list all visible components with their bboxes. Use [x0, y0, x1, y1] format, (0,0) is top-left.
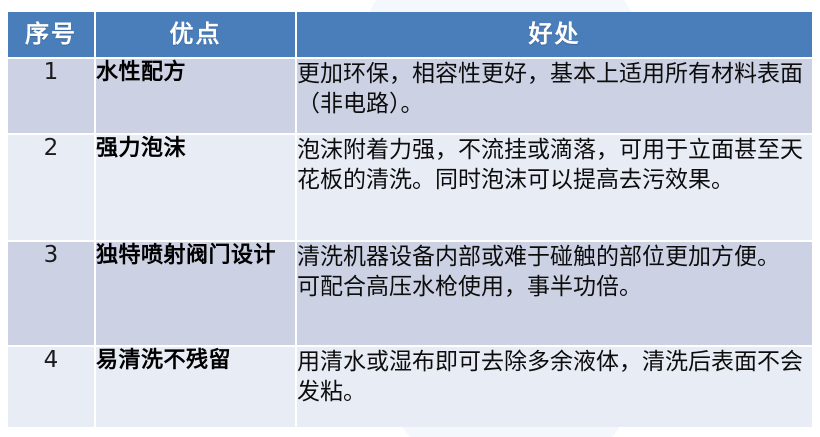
- row-benefit-cell: 强力泡沫: [96, 135, 297, 242]
- table-row: 1 水性配方 更加环保，相容性更好，基本上适用所有材料表面（非电路）。: [8, 59, 812, 135]
- table-row: 3 独特喷射阀门设计 清洗机器设备内部或难于碰触的部位更加方便。 可配合高压水枪…: [8, 242, 812, 347]
- row-benefit-cell: 易清洗不残留: [96, 347, 297, 427]
- table-body: 1 水性配方 更加环保，相容性更好，基本上适用所有材料表面（非电路）。 2 强力…: [8, 59, 812, 427]
- row-benefit-cell: 独特喷射阀门设计: [96, 242, 297, 347]
- row-detail-cell: 清洗机器设备内部或难于碰触的部位更加方便。 可配合高压水枪使用，事半功倍。: [297, 242, 812, 347]
- table-row: 4 易清洗不残留 用清水或湿布即可去除多余液体，清洗后表面不会发粘。: [8, 347, 812, 427]
- detail-paragraph: 泡沫附着力强，不流挂或滴落，可用于立面甚至天花板的清洗。同时泡沫可以提高去污效果…: [297, 135, 812, 196]
- column-header-benefit: 优点: [96, 12, 297, 59]
- row-detail-cell: 泡沫附着力强，不流挂或滴落，可用于立面甚至天花板的清洗。同时泡沫可以提高去污效果…: [297, 135, 812, 242]
- detail-paragraph: 清洗机器设备内部或难于碰触的部位更加方便。: [297, 242, 812, 272]
- row-index-cell: 4: [8, 347, 96, 427]
- detail-paragraph: 用清水或湿布即可去除多余液体，清洗后表面不会发粘。: [297, 347, 812, 408]
- table-header: 序号 优点 好处: [8, 12, 812, 59]
- table-row: 2 强力泡沫 泡沫附着力强，不流挂或滴落，可用于立面甚至天花板的清洗。同时泡沫可…: [8, 135, 812, 242]
- row-benefit-cell: 水性配方: [96, 59, 297, 135]
- row-index-cell: 3: [8, 242, 96, 347]
- column-header-detail: 好处: [297, 12, 812, 59]
- row-index-cell: 1: [8, 59, 96, 135]
- column-header-index: 序号: [8, 12, 96, 59]
- header-row: 序号 优点 好处: [8, 12, 812, 59]
- detail-paragraph: 可配合高压水枪使用，事半功倍。: [297, 272, 812, 302]
- advantages-table: 序号 优点 好处 1 水性配方 更加环保，相容性更好，基本上适用所有材料表面（非…: [8, 12, 812, 427]
- row-detail-cell: 用清水或湿布即可去除多余液体，清洗后表面不会发粘。: [297, 347, 812, 427]
- row-index-cell: 2: [8, 135, 96, 242]
- row-detail-cell: 更加环保，相容性更好，基本上适用所有材料表面（非电路）。: [297, 59, 812, 135]
- detail-paragraph: 更加环保，相容性更好，基本上适用所有材料表面（非电路）。: [297, 59, 812, 120]
